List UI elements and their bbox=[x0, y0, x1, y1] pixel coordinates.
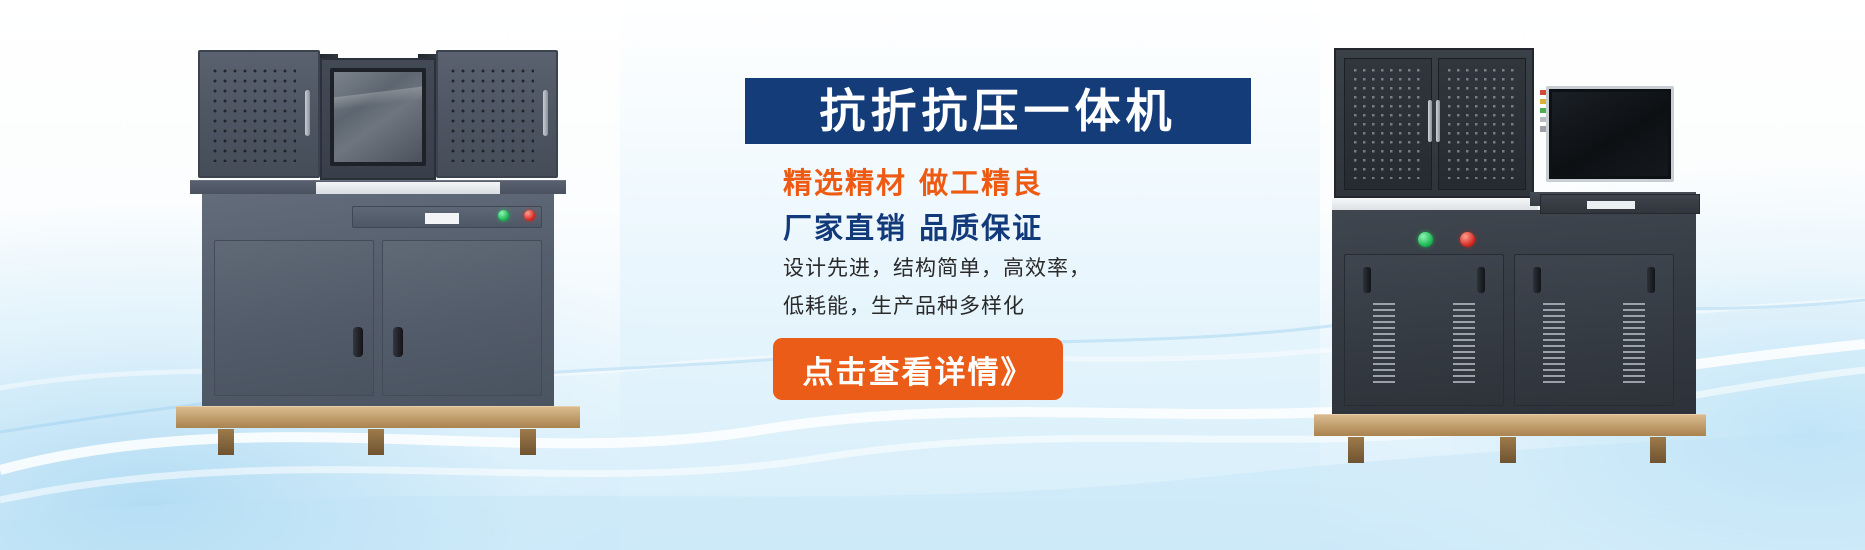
right-machine-door-left bbox=[1344, 254, 1504, 406]
left-machine-pallet bbox=[176, 406, 580, 428]
right-machine-door-right bbox=[1514, 254, 1674, 406]
headline-text: 抗折抗压一体机 bbox=[820, 88, 1177, 134]
left-machine-upper-section bbox=[168, 50, 588, 190]
pallet-leg bbox=[368, 429, 384, 455]
door-handle bbox=[1533, 267, 1541, 293]
cabinet-handle bbox=[305, 90, 310, 136]
subtitle-orange: 精选精材 做工精良 bbox=[783, 160, 1043, 202]
pallet-leg bbox=[1500, 437, 1516, 463]
left-machine-body bbox=[202, 194, 554, 406]
cabinet-handle bbox=[543, 90, 548, 136]
right-machine-monitor-housing bbox=[1536, 54, 1684, 200]
cabinet-handle bbox=[1436, 100, 1440, 142]
right-machine-upper-cabinet bbox=[1334, 48, 1534, 198]
door-handle bbox=[1363, 267, 1371, 293]
ventilation-louver bbox=[1543, 303, 1565, 387]
door-handle bbox=[353, 327, 363, 357]
right-machine-perforated-door-left bbox=[1344, 58, 1432, 190]
view-details-button[interactable]: 点击查看详情》 bbox=[773, 338, 1063, 400]
perforation-pattern bbox=[210, 66, 296, 162]
ventilation-louver bbox=[1373, 303, 1395, 387]
left-machine-perforated-cabinet-left bbox=[198, 50, 320, 178]
promo-banner: 抗折抗压一体机 精选精材 做工精良 厂家直销 品质保证 设计先进，结构简单，高效… bbox=[0, 0, 1865, 550]
left-machine-door-left bbox=[214, 240, 374, 396]
left-machine-door-right bbox=[382, 240, 542, 396]
pallet-leg bbox=[520, 429, 536, 455]
subtitle-blue: 厂家直销 品质保证 bbox=[783, 205, 1043, 247]
right-machine-power-on-light bbox=[1418, 232, 1433, 247]
ventilation-louver bbox=[1623, 303, 1645, 387]
right-machine-lower-doors bbox=[1344, 254, 1686, 406]
screen-glare bbox=[334, 86, 422, 109]
cabinet-handle bbox=[1428, 100, 1432, 142]
right-machine-control-drawer bbox=[1540, 194, 1700, 214]
door-handle bbox=[1647, 267, 1655, 293]
drawer-label-plate bbox=[1587, 201, 1635, 209]
left-machine-control-drawer bbox=[352, 206, 542, 228]
headline-banner: 抗折抗压一体机 bbox=[745, 78, 1251, 144]
left-machine-stop-light bbox=[524, 210, 535, 221]
pallet-leg bbox=[218, 429, 234, 455]
left-machine-white-trim bbox=[316, 182, 500, 194]
drawer-label-plate bbox=[425, 213, 459, 224]
description-line-2: 低耗能，生产品种多样化 bbox=[783, 290, 1025, 320]
right-machine-perforated-door-right bbox=[1438, 58, 1526, 190]
right-machine-stop-light bbox=[1460, 232, 1475, 247]
product-image-left bbox=[168, 40, 588, 432]
view-details-button-label: 点击查看详情》 bbox=[803, 347, 1034, 392]
right-machine-status-led-strip bbox=[1540, 90, 1546, 132]
right-machine-body bbox=[1332, 210, 1696, 414]
description-line-1: 设计先进，结构简单，高效率， bbox=[783, 252, 1091, 282]
perforation-pattern bbox=[1354, 69, 1422, 179]
right-machine-screen bbox=[1546, 86, 1674, 182]
right-machine-pallet bbox=[1314, 414, 1706, 436]
product-image-right bbox=[1314, 40, 1714, 436]
door-handle bbox=[393, 327, 403, 357]
right-machine-white-trim bbox=[1332, 198, 1538, 210]
left-machine-power-on-light bbox=[498, 210, 509, 221]
left-machine-lower-doors bbox=[214, 240, 542, 396]
door-handle bbox=[1477, 267, 1485, 293]
pallet-leg bbox=[1650, 437, 1666, 463]
left-machine-screen bbox=[330, 68, 426, 166]
left-machine-monitor-housing bbox=[320, 58, 436, 180]
banner-copy-block: 抗折抗压一体机 精选精材 做工精良 厂家直销 品质保证 设计先进，结构简单，高效… bbox=[745, 0, 1305, 550]
perforation-pattern bbox=[1448, 69, 1516, 179]
left-machine-perforated-cabinet-right bbox=[436, 50, 558, 178]
screen-glass bbox=[1552, 92, 1668, 176]
pallet-leg bbox=[1348, 437, 1364, 463]
ventilation-louver bbox=[1453, 303, 1475, 387]
perforation-pattern bbox=[448, 66, 534, 162]
